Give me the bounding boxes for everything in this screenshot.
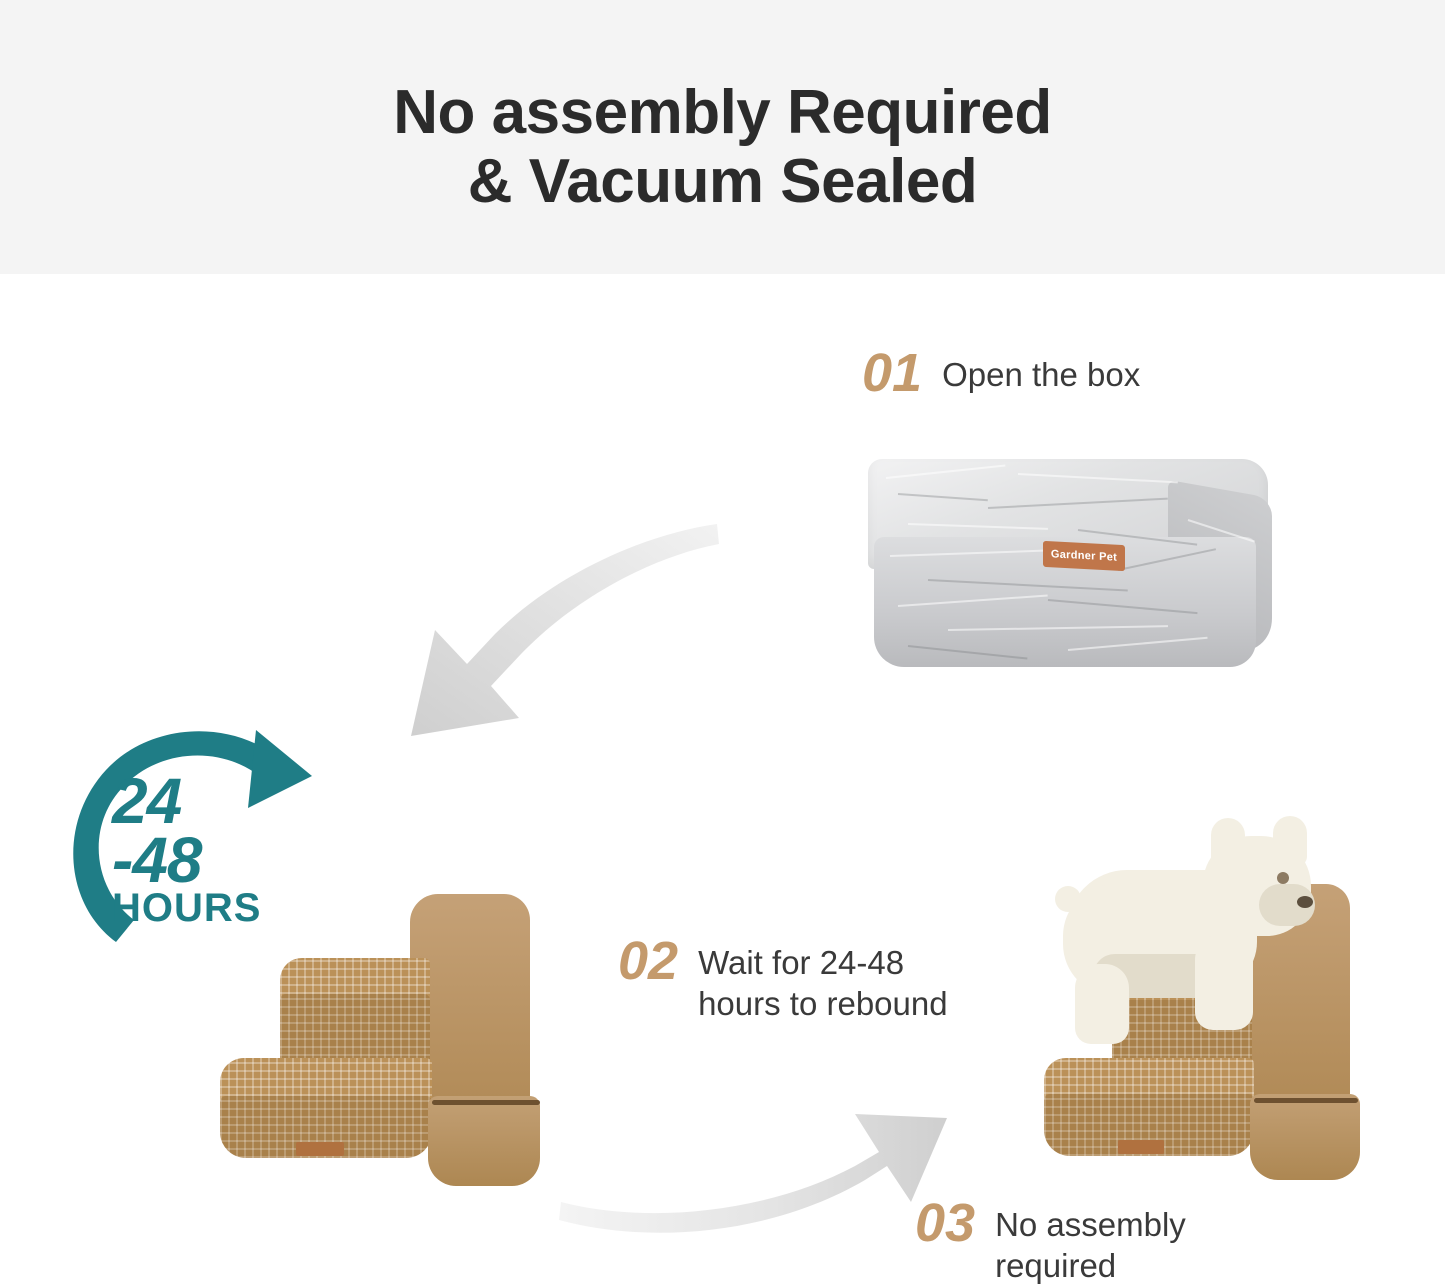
step-02: 02 Wait for 24-48 hours to rebound xyxy=(618,934,948,1025)
stairs-left-side-panel xyxy=(428,1096,540,1186)
page-title: No assembly Required & Vacuum Sealed xyxy=(0,78,1445,217)
page-title-line-2: & Vacuum Sealed xyxy=(0,147,1445,216)
dog-tail xyxy=(1055,886,1081,912)
arrow-box-to-stairs xyxy=(395,504,725,754)
dog-front-leg xyxy=(1195,934,1253,1030)
step-01: 01 Open the box xyxy=(862,346,1140,400)
step-03-text: No assembly required xyxy=(995,1196,1186,1287)
arrow-stairs-to-dog xyxy=(555,1074,955,1234)
rebounded-foam-pet-stairs xyxy=(200,874,600,1204)
stairs-right-brand-tag xyxy=(1118,1140,1164,1154)
step-02-text: Wait for 24-48 hours to rebound xyxy=(698,934,948,1025)
badge-line-1: 24 xyxy=(112,772,261,831)
vacuum-sealed-package: Gardner Pet xyxy=(868,459,1268,694)
stairs-right-side-panel xyxy=(1250,1094,1360,1180)
dog-ear-left xyxy=(1211,818,1245,866)
stairs-left-zipper xyxy=(432,1100,540,1105)
dog-rear-leg xyxy=(1075,964,1129,1044)
stairs-left-brand-tag xyxy=(296,1142,344,1156)
illustration-stage: 01 Open the box 02 Wait for 24-48 hours … xyxy=(0,274,1445,1274)
stairs-right-zipper xyxy=(1254,1098,1358,1103)
package-brand-label: Gardner Pet xyxy=(1043,541,1125,571)
french-bulldog xyxy=(1045,814,1325,1074)
dog-nose xyxy=(1297,896,1313,908)
stairs-left-riser-top xyxy=(280,994,430,1064)
header-band: No assembly Required & Vacuum Sealed xyxy=(0,0,1445,274)
dog-ear-right xyxy=(1273,816,1307,866)
step-03: 03 No assembly required xyxy=(915,1196,1186,1287)
page-title-line-1: No assembly Required xyxy=(393,78,1051,147)
step-01-text: Open the box xyxy=(942,346,1140,395)
step-03-number: 03 xyxy=(915,1196,975,1250)
dog-eye xyxy=(1277,872,1289,884)
step-02-number: 02 xyxy=(618,934,678,988)
step-01-number: 01 xyxy=(862,346,922,400)
